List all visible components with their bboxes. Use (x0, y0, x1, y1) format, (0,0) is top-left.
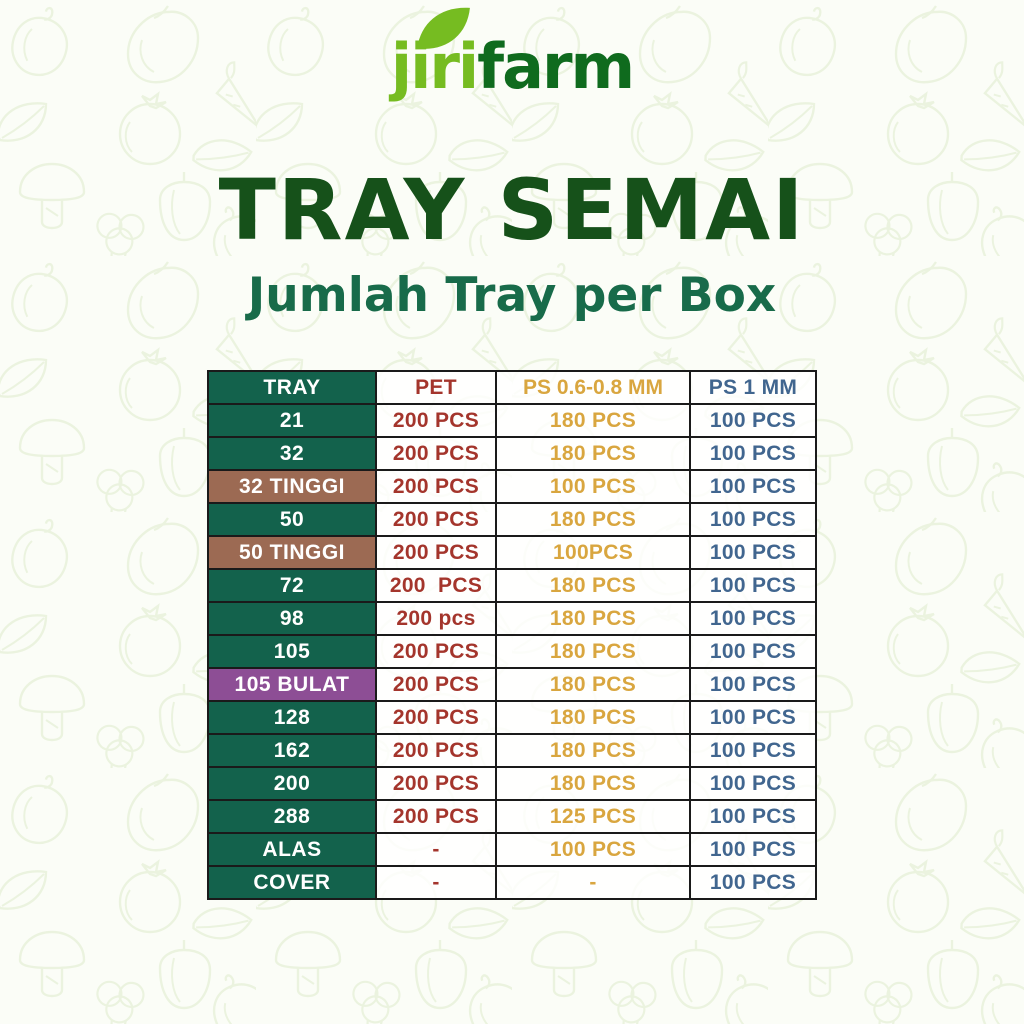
row-label-cell: COVER (208, 866, 376, 899)
row-label-cell: 98 (208, 602, 376, 635)
cell-pet: 200 PCS (376, 536, 496, 569)
row-label-cell: 105 (208, 635, 376, 668)
cell-ps1: 100 PCS (690, 635, 816, 668)
row-label-cell: 72 (208, 569, 376, 602)
cell-pet: 200 PCS (376, 767, 496, 800)
table-row: 162200 PCS180 PCS100 PCS (208, 734, 816, 767)
cell-pet: - (376, 866, 496, 899)
row-label-cell: ALAS (208, 833, 376, 866)
row-label-cell: 32 TINGGI (208, 470, 376, 503)
column-header-ps06: PS 0.6-0.8 MM (496, 371, 690, 404)
table-header-row: TRAY PET PS 0.6-0.8 MM PS 1 MM (208, 371, 816, 404)
cell-ps06: 100PCS (496, 536, 690, 569)
cell-pet: 200 pcs (376, 602, 496, 635)
cell-pet: 200 PCS (376, 437, 496, 470)
row-label-cell: 288 (208, 800, 376, 833)
table-row: 98200 pcs180 PCS100 PCS (208, 602, 816, 635)
table-body: 21200 PCS180 PCS100 PCS32200 PCS180 PCS1… (208, 404, 816, 899)
cell-ps06: 180 PCS (496, 404, 690, 437)
table-row: 72200 PCS180 PCS100 PCS (208, 569, 816, 602)
table-row: 50200 PCS180 PCS100 PCS (208, 503, 816, 536)
cell-ps06: 180 PCS (496, 668, 690, 701)
brand-logo: jirifarm (0, 36, 1024, 126)
tray-quantity-table: TRAY PET PS 0.6-0.8 MM PS 1 MM 21200 PCS… (207, 370, 817, 900)
row-label-cell: 200 (208, 767, 376, 800)
cell-ps1: 100 PCS (690, 734, 816, 767)
column-header-pet: PET (376, 371, 496, 404)
table-row: 288200 PCS125 PCS100 PCS (208, 800, 816, 833)
cell-ps06: 125 PCS (496, 800, 690, 833)
cell-ps06: 180 PCS (496, 503, 690, 536)
cell-ps1: 100 PCS (690, 767, 816, 800)
row-label-cell: 21 (208, 404, 376, 437)
table-row: 32200 PCS180 PCS100 PCS (208, 437, 816, 470)
cell-ps06: 180 PCS (496, 701, 690, 734)
table-row: 21200 PCS180 PCS100 PCS (208, 404, 816, 437)
cell-ps06: 180 PCS (496, 734, 690, 767)
cell-ps1: 100 PCS (690, 701, 816, 734)
cell-pet: 200 PCS (376, 800, 496, 833)
cell-ps06: 180 PCS (496, 635, 690, 668)
row-label-cell: 50 TINGGI (208, 536, 376, 569)
row-label-cell: 128 (208, 701, 376, 734)
row-label-cell: 105 BULAT (208, 668, 376, 701)
cell-ps1: 100 PCS (690, 404, 816, 437)
cell-ps06: 180 PCS (496, 569, 690, 602)
cell-ps1: 100 PCS (690, 470, 816, 503)
cell-ps06: 180 PCS (496, 437, 690, 470)
cell-pet: 200 PCS (376, 635, 496, 668)
cell-ps06: 180 PCS (496, 602, 690, 635)
cell-pet: 200 PCS (376, 569, 496, 602)
table-row: ALAS-100 PCS100 PCS (208, 833, 816, 866)
cell-ps06: - (496, 866, 690, 899)
logo-text-farm: farm (477, 30, 633, 103)
table-row: 105 BULAT200 PCS180 PCS100 PCS (208, 668, 816, 701)
page-title: TRAY SEMAI (0, 168, 1024, 252)
cell-ps06: 100 PCS (496, 833, 690, 866)
row-label-cell: 162 (208, 734, 376, 767)
cell-ps1: 100 PCS (690, 437, 816, 470)
cell-pet: - (376, 833, 496, 866)
cell-pet: 200 PCS (376, 470, 496, 503)
cell-ps1: 100 PCS (690, 866, 816, 899)
cell-ps1: 100 PCS (690, 668, 816, 701)
cell-pet: 200 PCS (376, 668, 496, 701)
table-row: 128200 PCS180 PCS100 PCS (208, 701, 816, 734)
cell-ps1: 100 PCS (690, 833, 816, 866)
table-row: 200200 PCS180 PCS100 PCS (208, 767, 816, 800)
table-header: TRAY PET PS 0.6-0.8 MM PS 1 MM (208, 371, 816, 404)
poster-page: jirifarm TRAY SEMAI Jumlah Tray per Box … (0, 0, 1024, 1024)
cell-pet: 200 PCS (376, 503, 496, 536)
cell-ps1: 100 PCS (690, 602, 816, 635)
cell-pet: 200 PCS (376, 404, 496, 437)
cell-ps1: 100 PCS (690, 503, 816, 536)
table-row: 32 TINGGI200 PCS100 PCS100 PCS (208, 470, 816, 503)
row-label-cell: 50 (208, 503, 376, 536)
cell-ps1: 100 PCS (690, 800, 816, 833)
cell-ps06: 180 PCS (496, 767, 690, 800)
table-row: COVER--100 PCS (208, 866, 816, 899)
cell-ps06: 100 PCS (496, 470, 690, 503)
cell-ps1: 100 PCS (690, 536, 816, 569)
column-header-tray: TRAY (208, 371, 376, 404)
cell-ps1: 100 PCS (690, 569, 816, 602)
table-row: 50 TINGGI200 PCS100PCS100 PCS (208, 536, 816, 569)
cell-pet: 200 PCS (376, 734, 496, 767)
column-header-ps1: PS 1 MM (690, 371, 816, 404)
page-subtitle: Jumlah Tray per Box (0, 268, 1024, 323)
table-row: 105200 PCS180 PCS100 PCS (208, 635, 816, 668)
leaf-icon (415, 6, 473, 54)
row-label-cell: 32 (208, 437, 376, 470)
cell-pet: 200 PCS (376, 701, 496, 734)
